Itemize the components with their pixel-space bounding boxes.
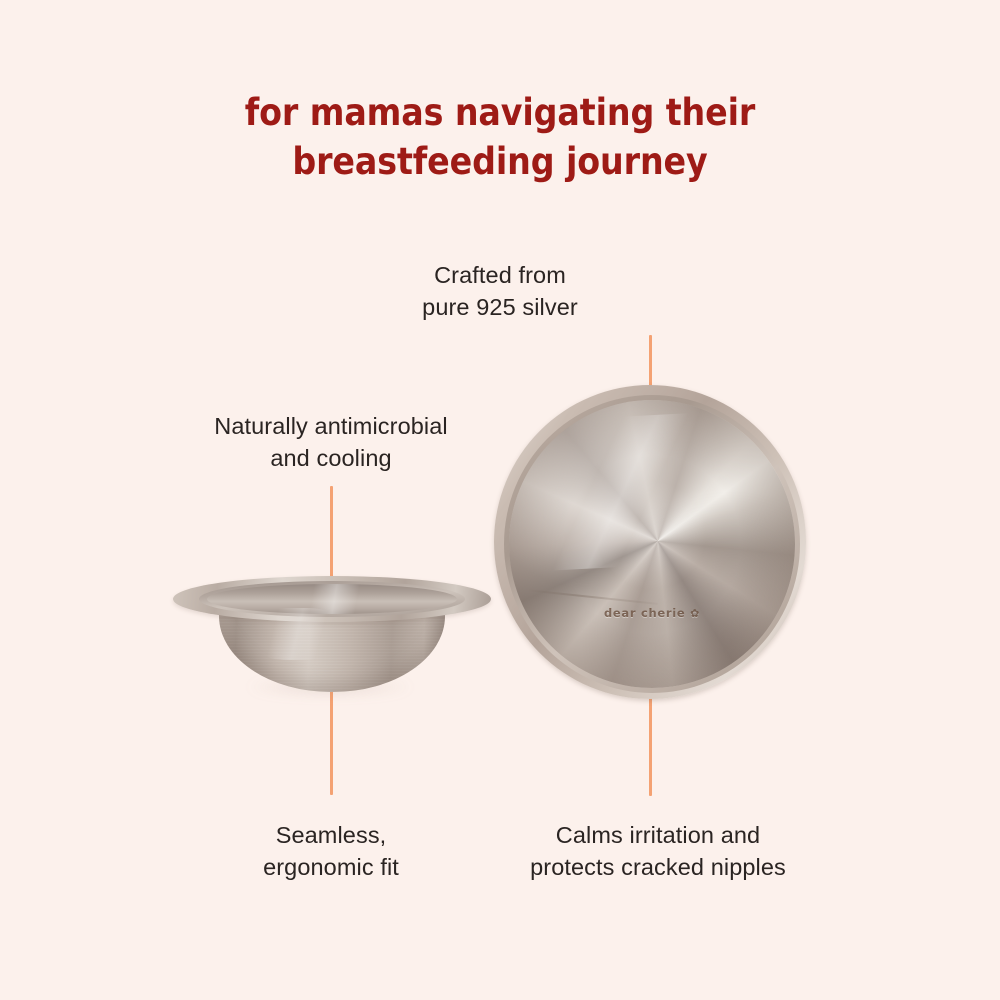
headline-line-2: breastfeeding journey [0, 137, 1000, 186]
feature-label-calms: Calms irritation and protects cracked ni… [458, 819, 858, 883]
bowl-inner-cavity [207, 584, 457, 614]
leader-line-calms [649, 689, 652, 796]
feature-label-antimicrobial-line-2: and cooling [131, 442, 531, 474]
dome-brushed-face: dear cherie ✿ [509, 400, 795, 688]
feature-label-calms-line-1: Calms irritation and [458, 819, 858, 851]
feature-label-seamless-line-2: ergonomic fit [161, 851, 501, 883]
feature-label-seamless: Seamless, ergonomic fit [161, 819, 501, 883]
feature-label-calms-line-2: protects cracked nipples [458, 851, 858, 883]
product-image-dome-view: dear cherie ✿ [492, 383, 808, 701]
page-title: for mamas navigating their breastfeeding… [0, 88, 1000, 186]
brand-engraving: dear cherie ✿ [509, 606, 795, 620]
feature-label-antimicrobial: Naturally antimicrobial and cooling [131, 410, 531, 474]
feature-label-crafted-line-1: Crafted from [340, 259, 660, 291]
feature-label-seamless-line-1: Seamless, [161, 819, 501, 851]
flower-icon: ✿ [690, 607, 700, 620]
dome-outer-rim: dear cherie ✿ [494, 385, 806, 699]
feature-label-crafted-line-2: pure 925 silver [340, 291, 660, 323]
brand-engraving-text: dear cherie [604, 606, 685, 620]
product-image-side-view [173, 572, 491, 700]
feature-label-crafted: Crafted from pure 925 silver [340, 259, 660, 323]
dome-highlight-streak [528, 413, 707, 572]
dome-seam-line [526, 589, 657, 605]
feature-label-antimicrobial-line-1: Naturally antimicrobial [131, 410, 531, 442]
headline-line-1: for mamas navigating their [245, 91, 755, 134]
product-feature-graphic: for mamas navigating their breastfeeding… [0, 0, 1000, 1000]
